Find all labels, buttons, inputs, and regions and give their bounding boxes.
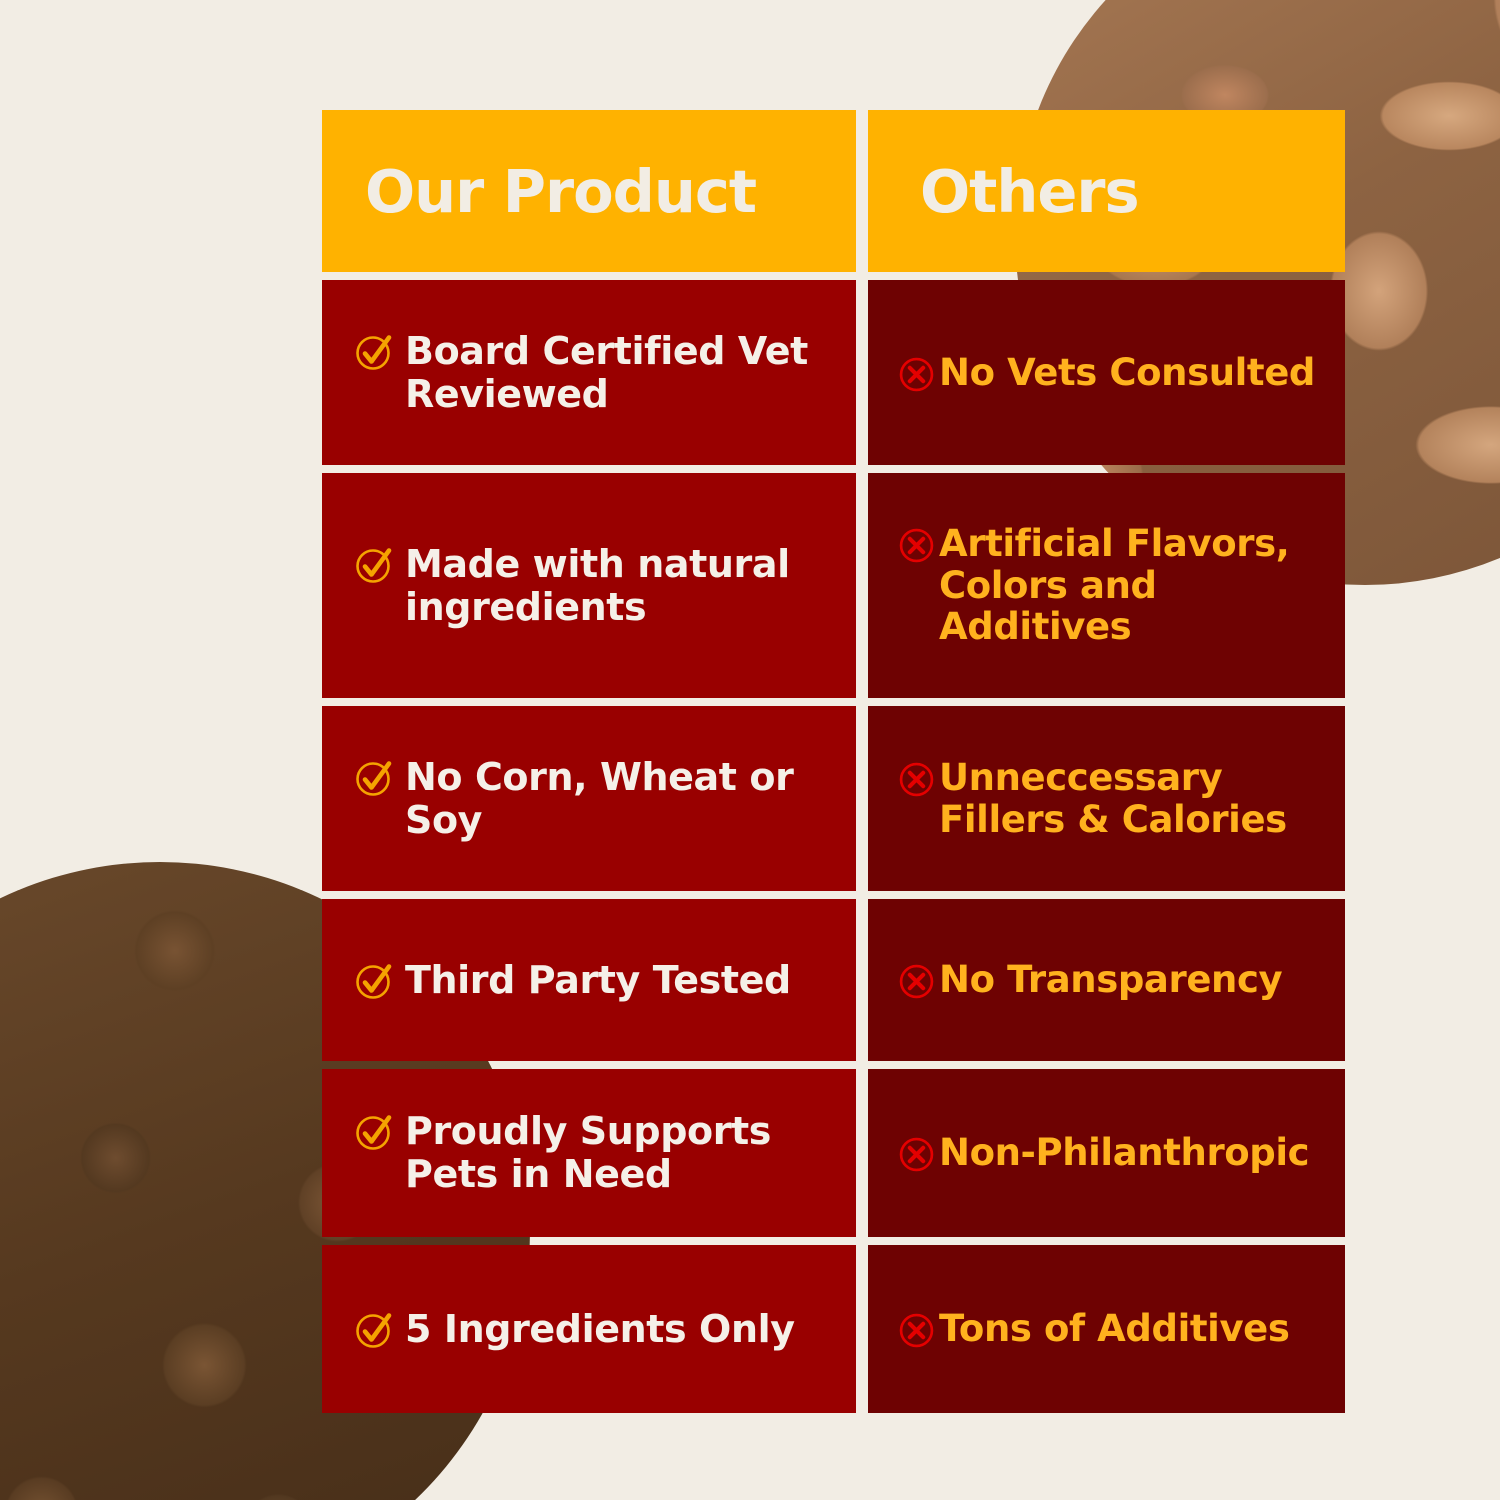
cell-others-1: No Vets Consulted — [868, 280, 1345, 465]
cell-others-2: Artificial Flavors, Colors and Additives — [868, 473, 1345, 698]
drawback-label-1: No Vets Consulted — [939, 352, 1315, 394]
cell-others-6: Tons of Additives — [868, 1245, 1345, 1413]
feature-item-4: Third Party Tested — [354, 959, 791, 1002]
check-circle-icon — [354, 961, 394, 1001]
x-circle-icon — [898, 356, 935, 393]
check-circle-icon — [354, 545, 394, 585]
cell-our-product-5: Proudly Supports Pets in Need — [322, 1069, 856, 1237]
feature-item-6: 5 Ingredients Only — [354, 1308, 795, 1351]
header-cell-others: Others — [868, 110, 1345, 272]
cell-our-product-6: 5 Ingredients Only — [322, 1245, 856, 1413]
comparison-table: Our Product Others Board Certified Vet R… — [322, 110, 1345, 1413]
cell-our-product-2: Made with natural ingredients — [322, 473, 856, 698]
cell-our-product-1: Board Certified Vet Reviewed — [322, 280, 856, 465]
cell-our-product-4: Third Party Tested — [322, 899, 856, 1061]
x-circle-icon — [898, 1312, 935, 1349]
drawback-item-5: Non-Philanthropic — [898, 1132, 1309, 1174]
check-circle-icon — [354, 758, 394, 798]
feature-label-4: Third Party Tested — [405, 959, 791, 1002]
feature-label-2: Made with natural ingredients — [405, 543, 830, 629]
cell-others-5: Non-Philanthropic — [868, 1069, 1345, 1237]
table-row: Board Certified Vet Reviewed No Vets Con… — [322, 280, 1345, 465]
check-circle-icon — [354, 1310, 394, 1350]
drawback-label-3: Unneccessary Fillers & Calories — [939, 757, 1319, 841]
feature-label-6: 5 Ingredients Only — [405, 1308, 795, 1351]
x-circle-icon — [898, 527, 935, 564]
feature-item-2: Made with natural ingredients — [354, 543, 830, 629]
feature-label-3: No Corn, Wheat or Soy — [405, 756, 830, 842]
feature-label-1: Board Certified Vet Reviewed — [405, 330, 830, 416]
cell-others-3: Unneccessary Fillers & Calories — [868, 706, 1345, 891]
drawback-item-2: Artificial Flavors, Colors and Additives — [898, 523, 1319, 648]
cell-others-4: No Transparency — [868, 899, 1345, 1061]
drawback-label-4: No Transparency — [939, 959, 1282, 1001]
table-row: No Corn, Wheat or Soy Unneccessary Fille… — [322, 706, 1345, 891]
check-circle-icon — [354, 332, 394, 372]
table-header-row: Our Product Others — [322, 110, 1345, 272]
feature-item-5: Proudly Supports Pets in Need — [354, 1110, 830, 1196]
cell-our-product-3: No Corn, Wheat or Soy — [322, 706, 856, 891]
drawback-label-6: Tons of Additives — [939, 1308, 1289, 1350]
drawback-item-3: Unneccessary Fillers & Calories — [898, 757, 1319, 841]
feature-item-1: Board Certified Vet Reviewed — [354, 330, 830, 416]
header-label-others: Others — [868, 157, 1139, 226]
x-circle-icon — [898, 761, 935, 798]
check-circle-icon — [354, 1112, 394, 1152]
table-row: Proudly Supports Pets in Need Non-Philan… — [322, 1069, 1345, 1237]
header-cell-our-product: Our Product — [322, 110, 856, 272]
x-circle-icon — [898, 1136, 935, 1173]
drawback-item-6: Tons of Additives — [898, 1308, 1289, 1350]
table-row: Made with natural ingredients Artificial… — [322, 473, 1345, 698]
header-label-our-product: Our Product — [322, 157, 756, 226]
drawback-label-5: Non-Philanthropic — [939, 1132, 1309, 1174]
table-row: Third Party Tested No Transparency — [322, 899, 1345, 1061]
feature-label-5: Proudly Supports Pets in Need — [405, 1110, 830, 1196]
x-circle-icon — [898, 963, 935, 1000]
drawback-item-4: No Transparency — [898, 959, 1282, 1001]
feature-item-3: No Corn, Wheat or Soy — [354, 756, 830, 842]
drawback-item-1: No Vets Consulted — [898, 352, 1315, 394]
drawback-label-2: Artificial Flavors, Colors and Additives — [939, 523, 1319, 648]
table-row: 5 Ingredients Only Tons of Additives — [322, 1245, 1345, 1413]
